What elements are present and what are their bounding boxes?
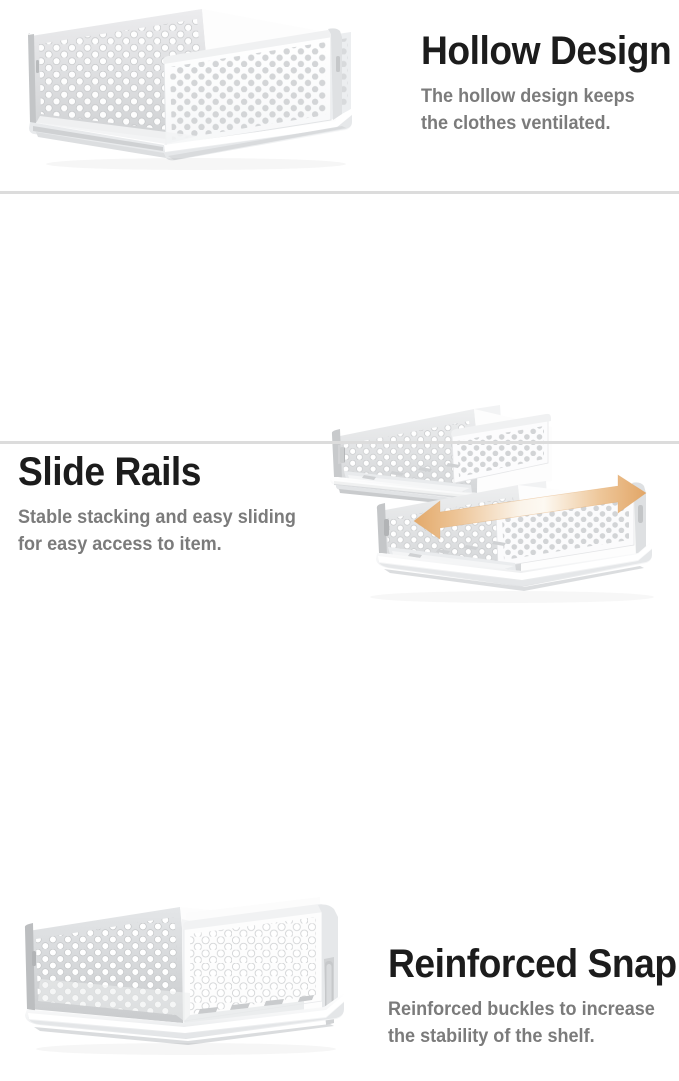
feature-body-line: the clothes ventilated. <box>421 111 666 138</box>
feature-section-reinforced-snap: Reinforced Snap Reinforced buckles to in… <box>0 445 679 638</box>
feature-body-reinforced-snap: Reinforced buckles to increase the stabi… <box>388 997 664 1051</box>
product-feature-infographic: Hollow Design The hollow design keeps th… <box>0 0 679 638</box>
feature-section-hollow-design: Hollow Design The hollow design keeps th… <box>0 0 679 192</box>
feature-body-line: Reinforced buckles to increase <box>388 997 664 1024</box>
section-divider <box>0 441 679 444</box>
feature-section-slide-rails: Slide Rails Stable stacking and easy sli… <box>0 195 679 442</box>
product-image-hollow-design <box>6 4 370 188</box>
feature-body-line: the stability of the shelf. <box>388 1024 664 1051</box>
section-divider <box>0 191 679 194</box>
feature-text-hollow-design: Hollow Design The hollow design keeps th… <box>421 30 679 138</box>
feature-body-line: The hollow design keeps <box>421 84 666 111</box>
feature-text-reinforced-snap: Reinforced Snap Reinforced buckles to in… <box>388 943 678 1051</box>
feature-body-hollow-design: The hollow design keeps the clothes vent… <box>421 84 666 138</box>
product-image-reinforced-snap <box>4 897 370 1081</box>
feature-heading-reinforced-snap: Reinforced Snap <box>388 943 658 985</box>
feature-heading-hollow-design: Hollow Design <box>421 30 661 72</box>
